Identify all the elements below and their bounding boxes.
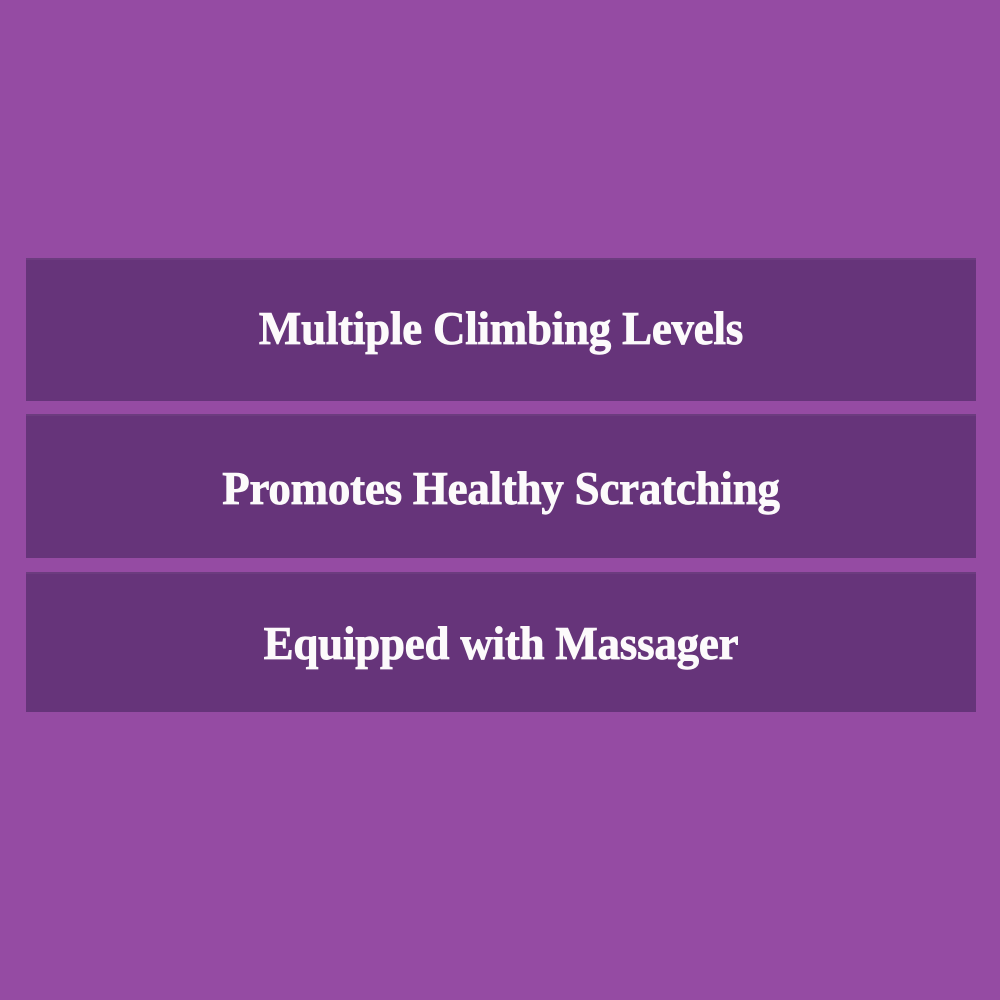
feature-panel-label: Equipped with Massager [47, 621, 954, 668]
feature-highlights-card: Multiple Climbing Levels Promotes Health… [0, 0, 1000, 1000]
feature-panel-label: Promotes Healthy Scratching [47, 466, 954, 513]
feature-panel-equipped-with-massager: Equipped with Massager [26, 572, 976, 712]
feature-panel-label: Multiple Climbing Levels [47, 306, 954, 353]
feature-panel-promotes-healthy-scratching: Promotes Healthy Scratching [26, 414, 976, 558]
feature-panel-multiple-climbing-levels: Multiple Climbing Levels [26, 258, 976, 401]
